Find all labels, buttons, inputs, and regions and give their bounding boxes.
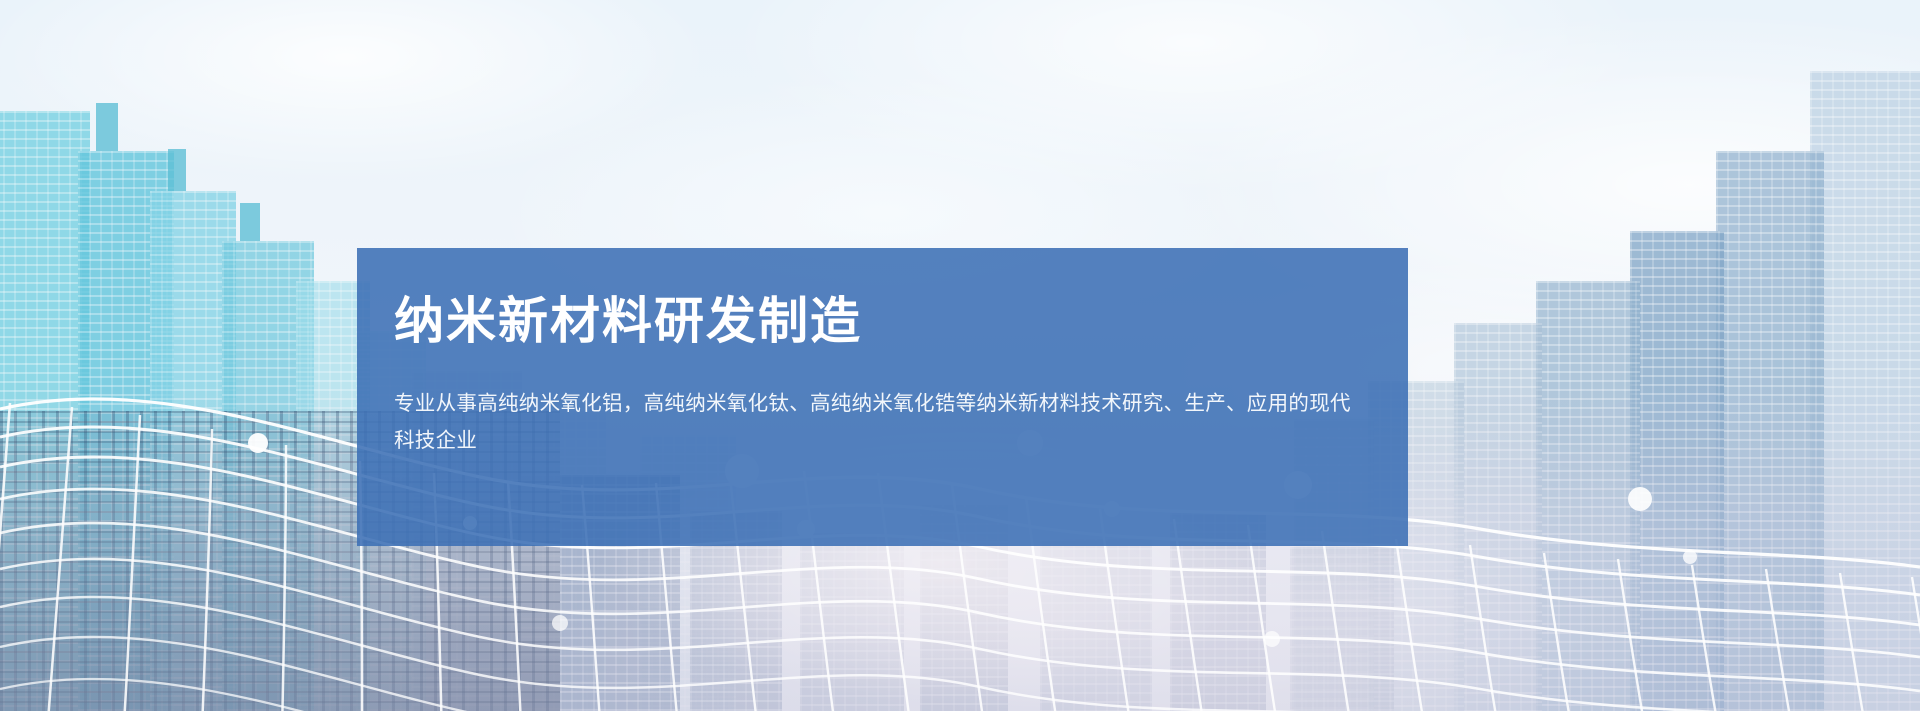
hero-banner: 纳米新材料研发制造 专业从事高纯纳米氧化铝，高纯纳米氧化钛、高纯纳米氧化锆等纳米… bbox=[0, 0, 1920, 711]
hero-text-panel: 纳米新材料研发制造 专业从事高纯纳米氧化铝，高纯纳米氧化钛、高纯纳米氧化锆等纳米… bbox=[357, 248, 1408, 546]
page-subtitle: 专业从事高纯纳米氧化铝，高纯纳米氧化钛、高纯纳米氧化锆等纳米新材料技术研究、生产… bbox=[394, 385, 1354, 460]
page-title: 纳米新材料研发制造 bbox=[394, 295, 1354, 347]
